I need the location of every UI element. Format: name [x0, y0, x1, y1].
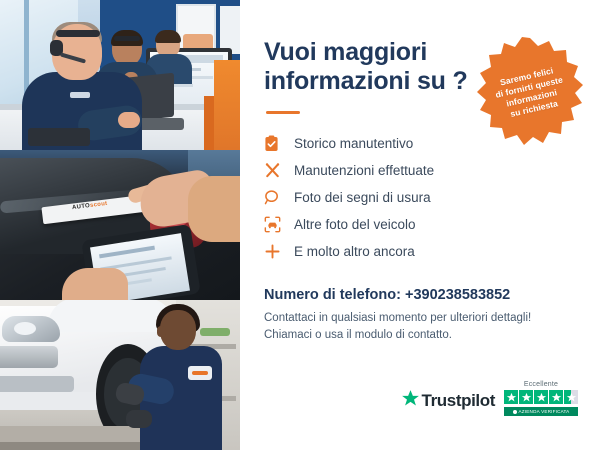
- main-agent-hand: [118, 112, 140, 128]
- star-filled: [504, 390, 518, 404]
- clipboard-check-icon: [264, 135, 290, 152]
- contact-subtext-line-2: Chiamaci o usa il modulo di contatto.: [264, 327, 576, 345]
- trustpilot-wordmark: Trustpilot: [422, 391, 495, 411]
- content-panel: Vuoi maggiori informazioni su ? Saremo f…: [240, 0, 600, 450]
- mechanic-uniform-patch: [188, 366, 212, 380]
- trustpilot-star-icon: [401, 389, 420, 413]
- contact-subtext-line-1: Contattaci in qualsiasi momento per ulte…: [264, 310, 576, 328]
- feature-label: E molto altro ancora: [294, 244, 415, 259]
- technician-second-hand: [62, 268, 128, 300]
- star-rating: [504, 390, 578, 404]
- contact-subtext: Contattaci in qualsiasi momento per ulte…: [264, 310, 576, 346]
- call-center-agents-photo: [0, 0, 240, 150]
- second-agent-headset: [114, 36, 140, 41]
- orange-partition-shadow: [204, 96, 214, 150]
- verified-text: AZIENDA VERIFICATA: [519, 409, 570, 414]
- title-underline-rule: [266, 111, 300, 114]
- trustpilot-score: Eccellente AZIENDA VERIFICATA: [504, 381, 578, 416]
- feature-list: Storico manutentivo Manutenzioni effettu…: [264, 130, 576, 265]
- headline-line-2: informazioni su ?: [264, 67, 479, 96]
- phone-label: Numero di telefono:: [264, 287, 401, 303]
- technician-arm: [188, 176, 240, 242]
- feature-item-wear-photos: Foto dei segni di usura: [264, 184, 576, 211]
- feature-label: Manutenzioni effettuate: [294, 163, 434, 178]
- trustpilot-rating[interactable]: Trustpilot Eccellente AZIENDA VERIFICATA: [401, 381, 578, 416]
- page-title: Vuoi maggiori informazioni su ?: [264, 38, 479, 97]
- headlight-lens: [14, 322, 36, 335]
- star-partial: [564, 390, 578, 404]
- plus-icon: [264, 243, 290, 260]
- star-filled: [519, 390, 533, 404]
- headline-line-1: Vuoi maggiori: [264, 38, 479, 67]
- feature-item-much-more: E molto altro ancora: [264, 238, 576, 265]
- background-person-hair: [155, 30, 181, 43]
- star-filled: [534, 390, 548, 404]
- burst-text: Saremo felici di fornirti queste informa…: [492, 64, 569, 122]
- feature-label: Storico manutentivo: [294, 136, 413, 151]
- verified-business-badge: AZIENDA VERIFICATA: [504, 407, 578, 416]
- feature-label: Altre foto del veicolo: [294, 217, 416, 232]
- mechanic-glove-lower: [126, 410, 152, 428]
- advertisement-banner: AUTOscout: [0, 0, 600, 450]
- phone-number[interactable]: +390238583852: [405, 287, 510, 303]
- feature-label: Foto dei segni di usura: [294, 190, 431, 205]
- feature-item-maintenance-done: Manutenzioni effettuate: [264, 157, 576, 184]
- phone-line: Numero di telefono: +390238583852: [264, 287, 576, 303]
- car-roofline: [48, 300, 174, 332]
- mechanic-wheel-check-photo: [0, 300, 240, 450]
- uniform-logo: [70, 92, 90, 98]
- trustpilot-brand: Trustpilot: [401, 389, 495, 413]
- verified-check-icon: [513, 410, 517, 414]
- feature-item-more-photos: Altre foto del veicolo: [264, 211, 576, 238]
- car-lower-grille: [0, 376, 74, 392]
- callout-burst-badge: Saremo felici di fornirti queste informa…: [474, 36, 586, 148]
- desk-tablet: [28, 128, 90, 146]
- rating-label: Eccellente: [524, 381, 558, 388]
- star-filled: [549, 390, 563, 404]
- vehicle-inspection-tablet-photo: AUTOscout: [0, 150, 240, 300]
- car-grille: [0, 346, 58, 368]
- tools-cross-icon: [264, 162, 290, 179]
- car-scan-icon: [264, 216, 290, 233]
- main-agent-headset-band: [56, 30, 100, 37]
- wall-poster-secondary: [220, 6, 240, 54]
- photo-collage: AUTOscout: [0, 0, 240, 450]
- mechanic-ear: [157, 326, 166, 337]
- shelf-item: [200, 328, 230, 336]
- orange-partition: [214, 60, 240, 150]
- magnifier-icon: [264, 189, 290, 206]
- burst-content: Saremo felici di fornirti queste informa…: [474, 36, 586, 148]
